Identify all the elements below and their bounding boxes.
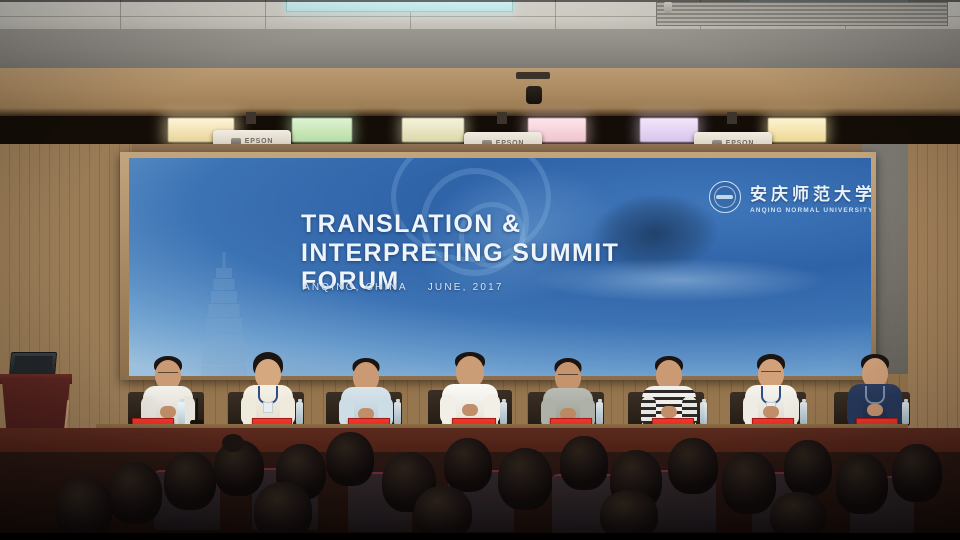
university-name-en: ANQING NORMAL UNIVERSITY <box>750 207 871 214</box>
audience-head <box>892 444 942 502</box>
audience-head <box>108 462 162 524</box>
university-name-cn: 安庆师范大学 <box>750 180 871 205</box>
university-seal-icon <box>709 181 741 213</box>
water-bottle <box>700 402 707 424</box>
water-bottle <box>596 402 603 424</box>
conference-hall-photo: EPSON EPSON EPSON <box>0 0 960 540</box>
screen-subtitle-location: ANQING, CHINA <box>303 282 408 293</box>
water-bottle <box>178 402 185 424</box>
panelist <box>340 358 392 426</box>
audience-head <box>668 438 718 494</box>
panelist <box>848 354 902 426</box>
screen-subtitle-date: JUNE, 2017 <box>428 282 504 293</box>
audience-head <box>560 436 608 490</box>
screen-subtitle: ANQING, CHINAJUNE, 2017 <box>303 282 504 293</box>
audience-head <box>722 452 776 514</box>
audience-head <box>498 448 552 510</box>
recessed-light <box>768 118 826 142</box>
audience-head <box>56 476 112 540</box>
water-bottle <box>902 402 909 424</box>
water-bottle <box>800 402 807 424</box>
sprinkler-head <box>664 1 672 13</box>
microphone <box>196 398 198 422</box>
projection-screen: TRANSLATION & INTERPRETING SUMMIT FORUM … <box>129 158 871 376</box>
audience-head <box>164 452 216 510</box>
recessed-light <box>292 118 352 142</box>
panelist <box>642 356 696 426</box>
audience-head <box>836 454 888 514</box>
ac-vent <box>656 2 948 26</box>
panelist <box>744 354 798 426</box>
ceiling-camera-arm <box>516 72 550 79</box>
ceiling-beam <box>0 29 960 69</box>
recessed-light <box>402 118 464 142</box>
water-bottle <box>296 402 303 424</box>
panelist <box>142 356 194 426</box>
audience-head <box>414 486 472 540</box>
panelist <box>442 352 498 426</box>
recessed-light <box>640 118 698 142</box>
hair-bun <box>222 434 244 452</box>
audience-head <box>444 438 492 492</box>
water-bottle <box>500 402 507 424</box>
audience-head <box>326 432 374 486</box>
water-bottle <box>394 402 401 424</box>
audience-head <box>254 482 312 540</box>
pagoda-silhouette <box>201 252 247 376</box>
university-logo: 安庆师范大学 ANQING NORMAL UNIVERSITY <box>709 180 871 214</box>
right-wall-paneling <box>908 144 960 434</box>
panelist <box>242 354 294 426</box>
audience-head <box>784 440 832 496</box>
panelist <box>542 358 594 426</box>
ceiling-camera-icon <box>526 86 542 104</box>
